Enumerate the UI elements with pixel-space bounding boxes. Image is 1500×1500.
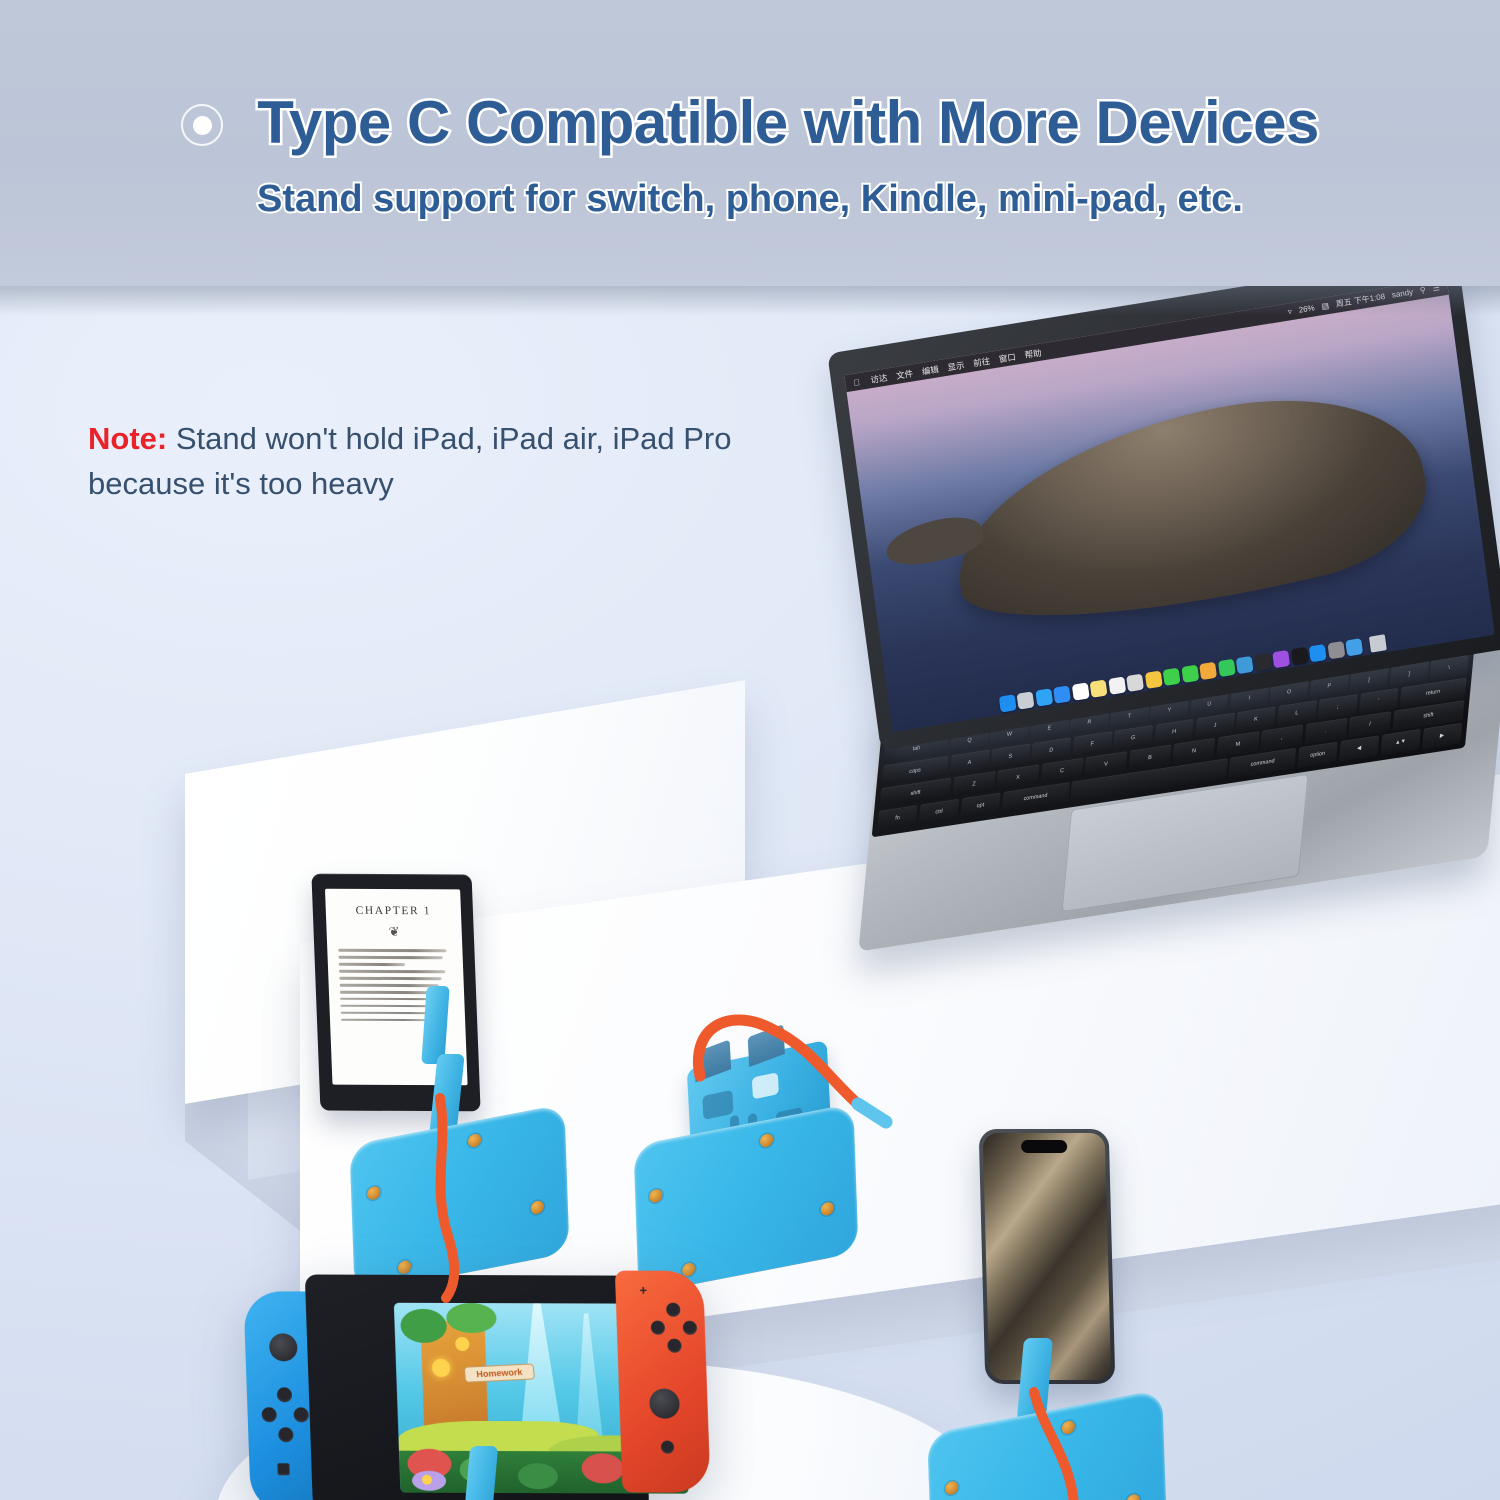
key-A[interactable]: A — [949, 750, 989, 776]
downloads-icon[interactable] — [1345, 638, 1363, 656]
trash-icon[interactable] — [1368, 634, 1386, 652]
key-H[interactable]: H — [1154, 719, 1194, 745]
kindle-text-line — [339, 963, 405, 966]
stand-base-kindle[interactable] — [352, 1124, 567, 1274]
key-F[interactable]: F — [1072, 731, 1112, 757]
key-J[interactable]: J — [1195, 713, 1235, 739]
kindle-ornament-icon: ❦ — [337, 924, 451, 941]
x-button[interactable] — [666, 1303, 680, 1317]
menu-item-5[interactable]: 窗口 — [998, 350, 1016, 365]
photos-icon[interactable] — [1144, 671, 1162, 689]
joycon-right[interactable]: + — [615, 1271, 711, 1493]
key-D[interactable]: D — [1031, 738, 1071, 764]
macbook-screen:  访达文件编辑显示前往窗口帮助 ▿ 26% ▤ 周五 下午1:08 sandy… — [844, 286, 1494, 732]
notes-icon[interactable] — [1090, 679, 1108, 697]
mail-icon[interactable] — [1053, 685, 1071, 703]
menu-item-3[interactable]: 显示 — [947, 359, 965, 374]
appstore-icon[interactable] — [1309, 644, 1327, 662]
screw-icon — [945, 1480, 958, 1495]
screw-icon — [821, 1201, 834, 1216]
note-label: Note: — [88, 421, 167, 456]
launchpad-icon[interactable] — [1017, 691, 1035, 709]
b-button[interactable] — [667, 1339, 681, 1353]
stand-base-dock[interactable] — [636, 1124, 856, 1274]
kindle-text-line — [340, 991, 435, 994]
product-photo: Note: Stand won't hold iPad, iPad air, i… — [0, 286, 1500, 1500]
menu-item-6[interactable]: 帮助 — [1024, 346, 1042, 361]
base-top — [349, 1104, 569, 1295]
kindle-text-line — [341, 1012, 438, 1015]
key-K[interactable]: K — [1236, 707, 1276, 733]
kindle-chapter-title: CHAPTER 1 — [337, 905, 451, 918]
key-L[interactable]: L — [1277, 700, 1317, 726]
facetime-icon[interactable] — [1181, 665, 1199, 683]
calendar-icon[interactable] — [1071, 682, 1089, 700]
dynamic-island — [1021, 1140, 1067, 1153]
kindle-text-line — [338, 949, 447, 952]
key-S[interactable]: S — [990, 744, 1030, 770]
page-subtitle: Stand support for switch, phone, Kindle,… — [0, 178, 1500, 221]
reminders-icon[interactable] — [1108, 677, 1126, 695]
analog-stick-left[interactable] — [269, 1333, 298, 1361]
analog-stick-right[interactable] — [649, 1389, 680, 1419]
numbers-icon[interactable] — [1217, 659, 1235, 677]
finder-icon[interactable] — [998, 694, 1016, 712]
y-button[interactable] — [651, 1321, 665, 1335]
kindle-text-line — [339, 970, 445, 973]
base-top — [927, 1389, 1168, 1500]
dpad-up-button[interactable] — [277, 1387, 293, 1402]
key-G[interactable]: G — [1113, 725, 1153, 751]
wallpaper-island — [938, 367, 1438, 651]
home-button[interactable] — [661, 1441, 674, 1454]
music-icon[interactable] — [1254, 653, 1272, 671]
screw-icon — [649, 1188, 662, 1203]
a-button[interactable] — [683, 1321, 697, 1335]
kindle-text-line — [340, 984, 440, 987]
contacts-icon[interactable] — [1126, 674, 1144, 692]
screw-icon — [1127, 1493, 1140, 1500]
note-text: Note: Stand won't hold iPad, iPad air, i… — [88, 417, 788, 507]
safari-icon[interactable] — [1035, 688, 1053, 706]
key-option[interactable]: option — [1297, 742, 1338, 768]
stand-base-phone[interactable] — [930, 1411, 1165, 1500]
macbook-pro: ~1234567890-=deletetabQWERTYUIOP[]\capsA… — [820, 287, 1500, 967]
screw-icon — [468, 1133, 481, 1148]
note-body: Stand won't hold iPad, iPad air, iPad Pr… — [88, 421, 732, 501]
key-◀[interactable]: ◀ — [1339, 736, 1380, 762]
kindle-text-line — [339, 977, 441, 980]
screw-icon — [1062, 1420, 1075, 1435]
screw-icon — [531, 1200, 544, 1215]
menu-item-2[interactable]: 编辑 — [921, 363, 939, 378]
pages-icon[interactable] — [1199, 662, 1217, 680]
dpad-right-button[interactable] — [293, 1407, 309, 1422]
screw-icon — [760, 1133, 773, 1148]
dpad-left-button[interactable] — [261, 1407, 277, 1422]
appletv-icon[interactable] — [1290, 647, 1308, 665]
key-▶[interactable]: ▶ — [1421, 723, 1462, 749]
plus-button[interactable]: + — [639, 1283, 647, 1298]
key-;[interactable]: ; — [1318, 694, 1358, 720]
screw-icon — [367, 1185, 380, 1200]
key-opt[interactable]: opt — [960, 793, 1001, 819]
system-preferences-icon[interactable] — [1327, 641, 1345, 659]
key-fn[interactable]: fn — [877, 805, 918, 831]
menu-item-1[interactable]: 文件 — [895, 367, 913, 382]
kindle-text-line — [339, 956, 443, 959]
menu-item-0[interactable]: 访达 — [870, 371, 888, 386]
capture-button[interactable] — [277, 1463, 289, 1475]
dpad-down-button[interactable] — [278, 1427, 294, 1442]
filled-circle-bullet-icon — [181, 104, 223, 146]
game-sign-homework: Homework — [464, 1363, 535, 1382]
menu-item-4[interactable]: 前往 — [972, 354, 990, 369]
menu-items[interactable]: 访达文件编辑显示前往窗口帮助 — [870, 346, 1042, 386]
key-▲▼[interactable]: ▲▼ — [1380, 729, 1421, 755]
header-band: Type C Compatible with More Devices Stan… — [0, 0, 1500, 286]
messages-icon[interactable] — [1163, 668, 1181, 686]
keynote-icon[interactable] — [1236, 656, 1254, 674]
base-top — [633, 1103, 858, 1295]
key-'[interactable]: ' — [1358, 688, 1398, 714]
kindle-text-line — [341, 1019, 432, 1022]
podcasts-icon[interactable] — [1272, 650, 1290, 668]
apple-logo-icon[interactable]:  — [853, 376, 861, 387]
page-title: Type C Compatible with More Devices — [257, 88, 1319, 157]
key-ctrl[interactable]: ctrl — [919, 799, 960, 825]
headline-row: Type C Compatible with More Devices — [0, 72, 1500, 172]
